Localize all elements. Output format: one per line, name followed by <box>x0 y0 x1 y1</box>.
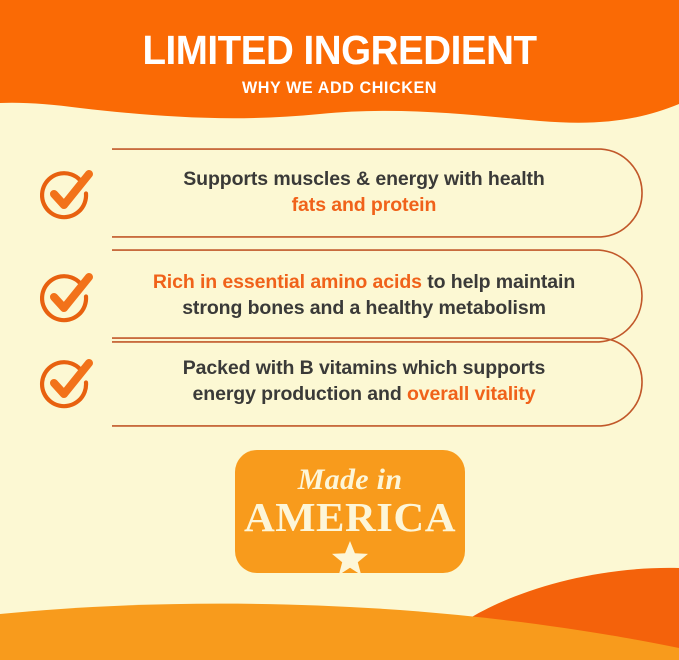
benefit-row: Packed with B vitamins which supportsene… <box>0 337 679 427</box>
star-icon <box>235 540 465 576</box>
check-circle-icon <box>38 354 94 410</box>
benefit-text-line: fats and protein <box>118 192 610 218</box>
benefit-plain-text: to help maintain <box>422 271 575 293</box>
benefit-accent-text: Rich in essential amino acids <box>153 271 422 293</box>
badge-made-in-label: Made in <box>235 450 465 496</box>
benefit-text-line: Packed with B vitamins which supports <box>118 355 610 381</box>
benefit-text-line: strong bones and a healthy metabolism <box>118 295 610 321</box>
benefit-text-line: energy production and overall vitality <box>118 381 610 407</box>
benefit-plain-text: strong bones and a healthy metabolism <box>182 297 546 319</box>
benefit-text: Packed with B vitamins which supportsene… <box>118 337 610 407</box>
benefit-card: Rich in essential amino acids to help ma… <box>112 249 646 343</box>
benefit-text: Rich in essential amino acids to help ma… <box>118 249 610 321</box>
benefit-accent-text: overall vitality <box>407 383 535 405</box>
benefit-card: Packed with B vitamins which supportsene… <box>112 337 646 427</box>
benefit-plain-text: energy production and <box>193 383 407 405</box>
check-circle-icon <box>38 165 94 221</box>
check-circle-icon <box>38 268 94 324</box>
benefit-plain-text: Packed with B vitamins which supports <box>183 357 546 379</box>
header-text-block: LIMITED INGREDIENT WHY WE ADD CHICKEN <box>0 28 679 98</box>
benefit-text: Supports muscles & energy with healthfat… <box>118 148 610 218</box>
page-subtitle: WHY WE ADD CHICKEN <box>17 78 662 98</box>
limited-ingredient-poster: LIMITED INGREDIENT WHY WE ADD CHICKEN Su… <box>0 0 679 660</box>
benefit-row: Rich in essential amino acids to help ma… <box>0 249 679 343</box>
page-title: LIMITED INGREDIENT <box>20 28 658 72</box>
benefit-text-line: Supports muscles & energy with health <box>118 166 610 192</box>
benefit-accent-text: fats and protein <box>292 194 437 216</box>
benefit-text-line: Rich in essential amino acids to help ma… <box>118 269 610 295</box>
benefit-plain-text: Supports muscles & energy with health <box>183 168 544 190</box>
benefit-card: Supports muscles & energy with healthfat… <box>112 148 646 238</box>
made-in-america-badge: Made in AMERICA <box>235 450 465 573</box>
benefit-row: Supports muscles & energy with healthfat… <box>0 148 679 238</box>
badge-america-label: AMERICA <box>230 496 469 538</box>
